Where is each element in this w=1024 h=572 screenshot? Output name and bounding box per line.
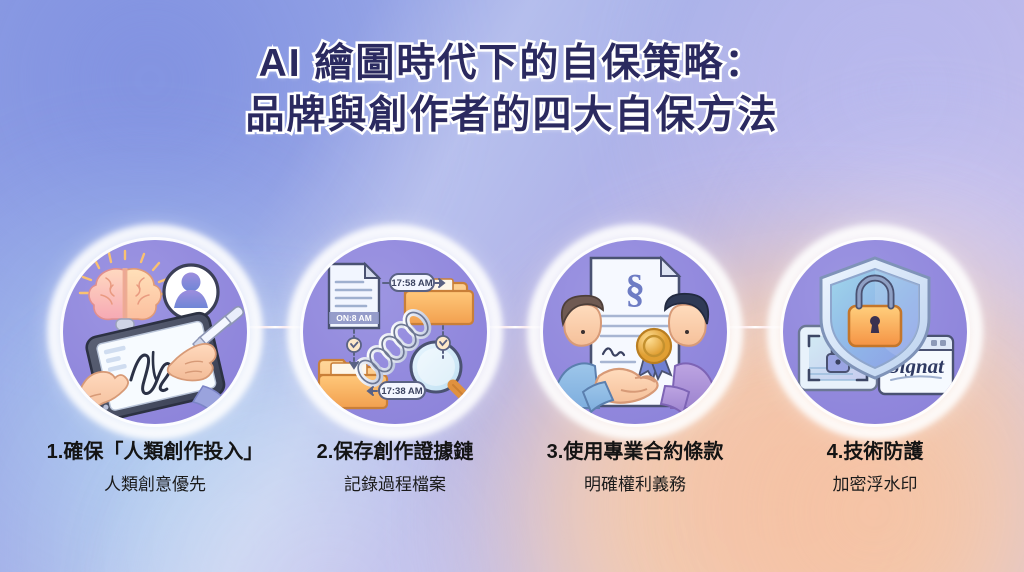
step-icon-row: ON:8 AM bbox=[0, 240, 1024, 424]
brain-tablet-signature-icon bbox=[63, 240, 247, 424]
step-3-subheading: 明確權利義務 bbox=[505, 474, 765, 495]
step-4-heading: 4.技術防護 bbox=[745, 440, 1005, 465]
infographic-poster: AI 繪圖時代下的自保策略： 品牌與創作者的四大自保方法 bbox=[0, 0, 1024, 572]
poster-title: AI 繪圖時代下的自保策略： 品牌與創作者的四大自保方法 bbox=[0, 38, 1024, 142]
step-4-disc: Signat bbox=[783, 240, 967, 424]
title-line-2: 品牌與創作者的四大自保方法 bbox=[0, 90, 1024, 142]
step-1-subheading: 人類創意優先 bbox=[25, 474, 285, 495]
step-1-heading: 1.確保「人類創作投入」 bbox=[25, 440, 285, 465]
step-4-node[interactable]: Signat bbox=[783, 240, 967, 424]
step-3-disc: § bbox=[543, 240, 727, 424]
contract-section-symbol: § bbox=[625, 266, 645, 311]
step-4-subheading: 加密浮水印 bbox=[745, 474, 1005, 495]
timestamp-top-label: 17:58 AM bbox=[391, 278, 432, 289]
step-3-caption: 3.使用專業合約條款 明確權利義務 bbox=[505, 440, 765, 495]
step-2-caption: 2.保存創作證據鏈 記錄過程檔案 bbox=[265, 440, 525, 495]
step-2-disc: ON:8 AM bbox=[303, 240, 487, 424]
step-1-node[interactable] bbox=[63, 240, 247, 424]
timestamp-bottom-label: 17:38 AM bbox=[381, 386, 422, 397]
step-1-disc bbox=[63, 240, 247, 424]
document-stamp-label: ON:8 AM bbox=[336, 313, 372, 323]
handshake-contract-icon: § bbox=[543, 240, 727, 424]
title-line-1: AI 繪圖時代下的自保策略： bbox=[0, 38, 1024, 90]
step-4-caption: 4.技術防護 加密浮水印 bbox=[745, 440, 1005, 495]
step-3-node[interactable]: § bbox=[543, 240, 727, 424]
folder-chain-evidence-icon: ON:8 AM bbox=[303, 240, 487, 424]
step-2-node[interactable]: ON:8 AM bbox=[303, 240, 487, 424]
step-1-caption: 1.確保「人類創作投入」 人類創意優先 bbox=[25, 440, 285, 495]
shield-lock-watermark-icon: Signat bbox=[783, 240, 967, 424]
step-captions: 1.確保「人類創作投入」 人類創意優先 2.保存創作證據鏈 記錄過程檔案 3.使… bbox=[0, 440, 1024, 520]
step-2-heading: 2.保存創作證據鏈 bbox=[265, 440, 525, 465]
step-2-subheading: 記錄過程檔案 bbox=[265, 474, 525, 495]
step-3-heading: 3.使用專業合約條款 bbox=[505, 440, 765, 465]
